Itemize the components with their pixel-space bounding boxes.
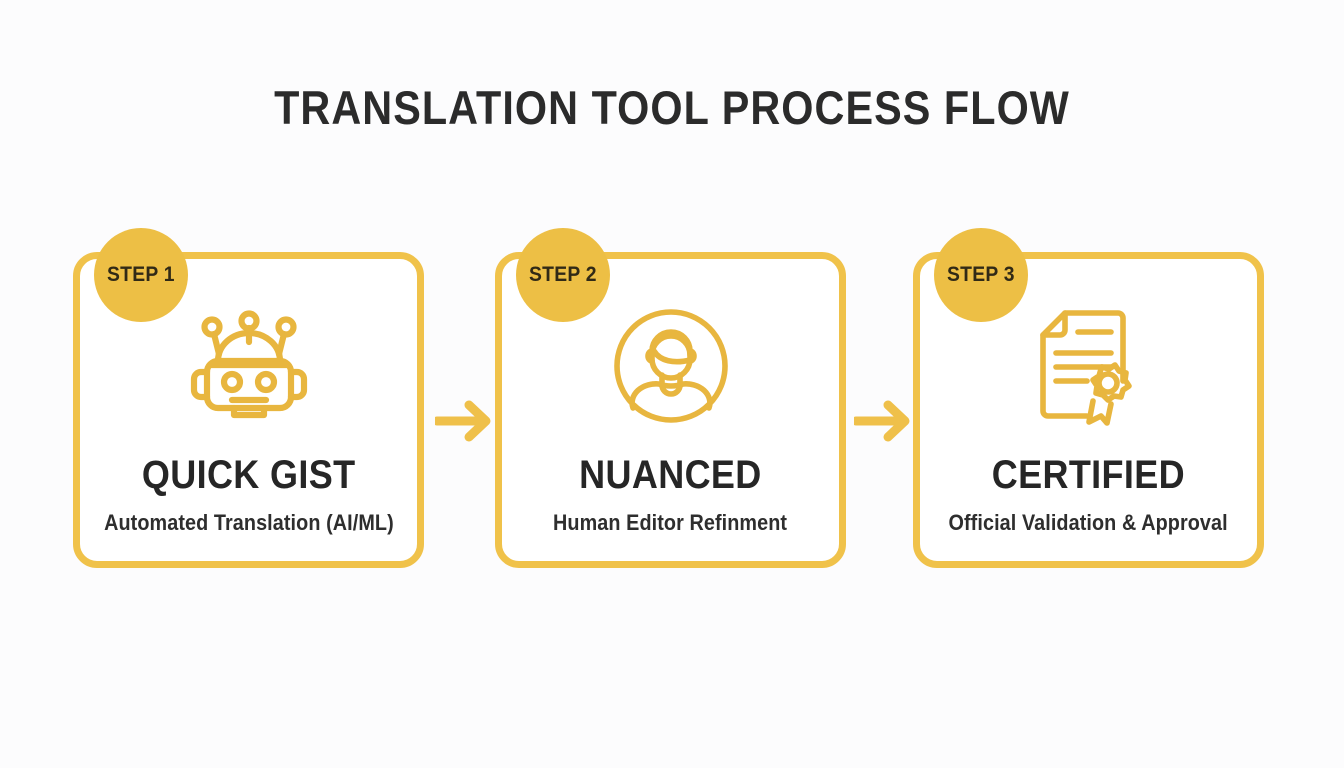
step-card-1[interactable]: STEP 1 [73,252,424,568]
step-badge-2: STEP 2 [516,228,610,322]
step-badge-2-label: STEP 2 [529,263,597,287]
step-card-3-subtitle: Official Validation & Approval [949,512,1228,534]
step-badge-3: STEP 3 [934,228,1028,322]
step-badge-3-label: STEP 3 [947,263,1015,287]
step-card-3-content: STEP 3 [920,259,1257,561]
step-card-3[interactable]: STEP 3 [913,252,1264,568]
arrow-right-icon-1 [435,399,499,443]
person-avatar-icon [605,303,737,429]
step-card-2-heading: NUANCED [579,455,762,495]
step-card-1-content: STEP 1 [80,259,417,561]
step-card-3-heading: CERTIFIED [992,455,1185,495]
step-card-2-content: STEP 2 [502,259,839,561]
step-badge-1: STEP 1 [94,228,188,322]
arrow-right-icon-2 [854,399,918,443]
certificate-icon [1023,303,1155,429]
step-card-1-heading: QUICK GIST [142,455,356,495]
robot-icon [183,303,315,429]
step-card-2[interactable]: STEP 2 [495,252,846,568]
page-title: TRANSLATION TOOL PROCESS FLOW [81,82,1264,134]
process-flow-infographic: TRANSLATION TOOL PROCESS FLOW STEP 1 [0,0,1344,768]
steps-row: STEP 1 [73,252,1271,582]
step-card-2-subtitle: Human Editor Refinment [553,512,787,534]
step-badge-1-label: STEP 1 [107,263,175,287]
step-card-1-subtitle: Automated Translation (AI/ML) [104,512,394,534]
